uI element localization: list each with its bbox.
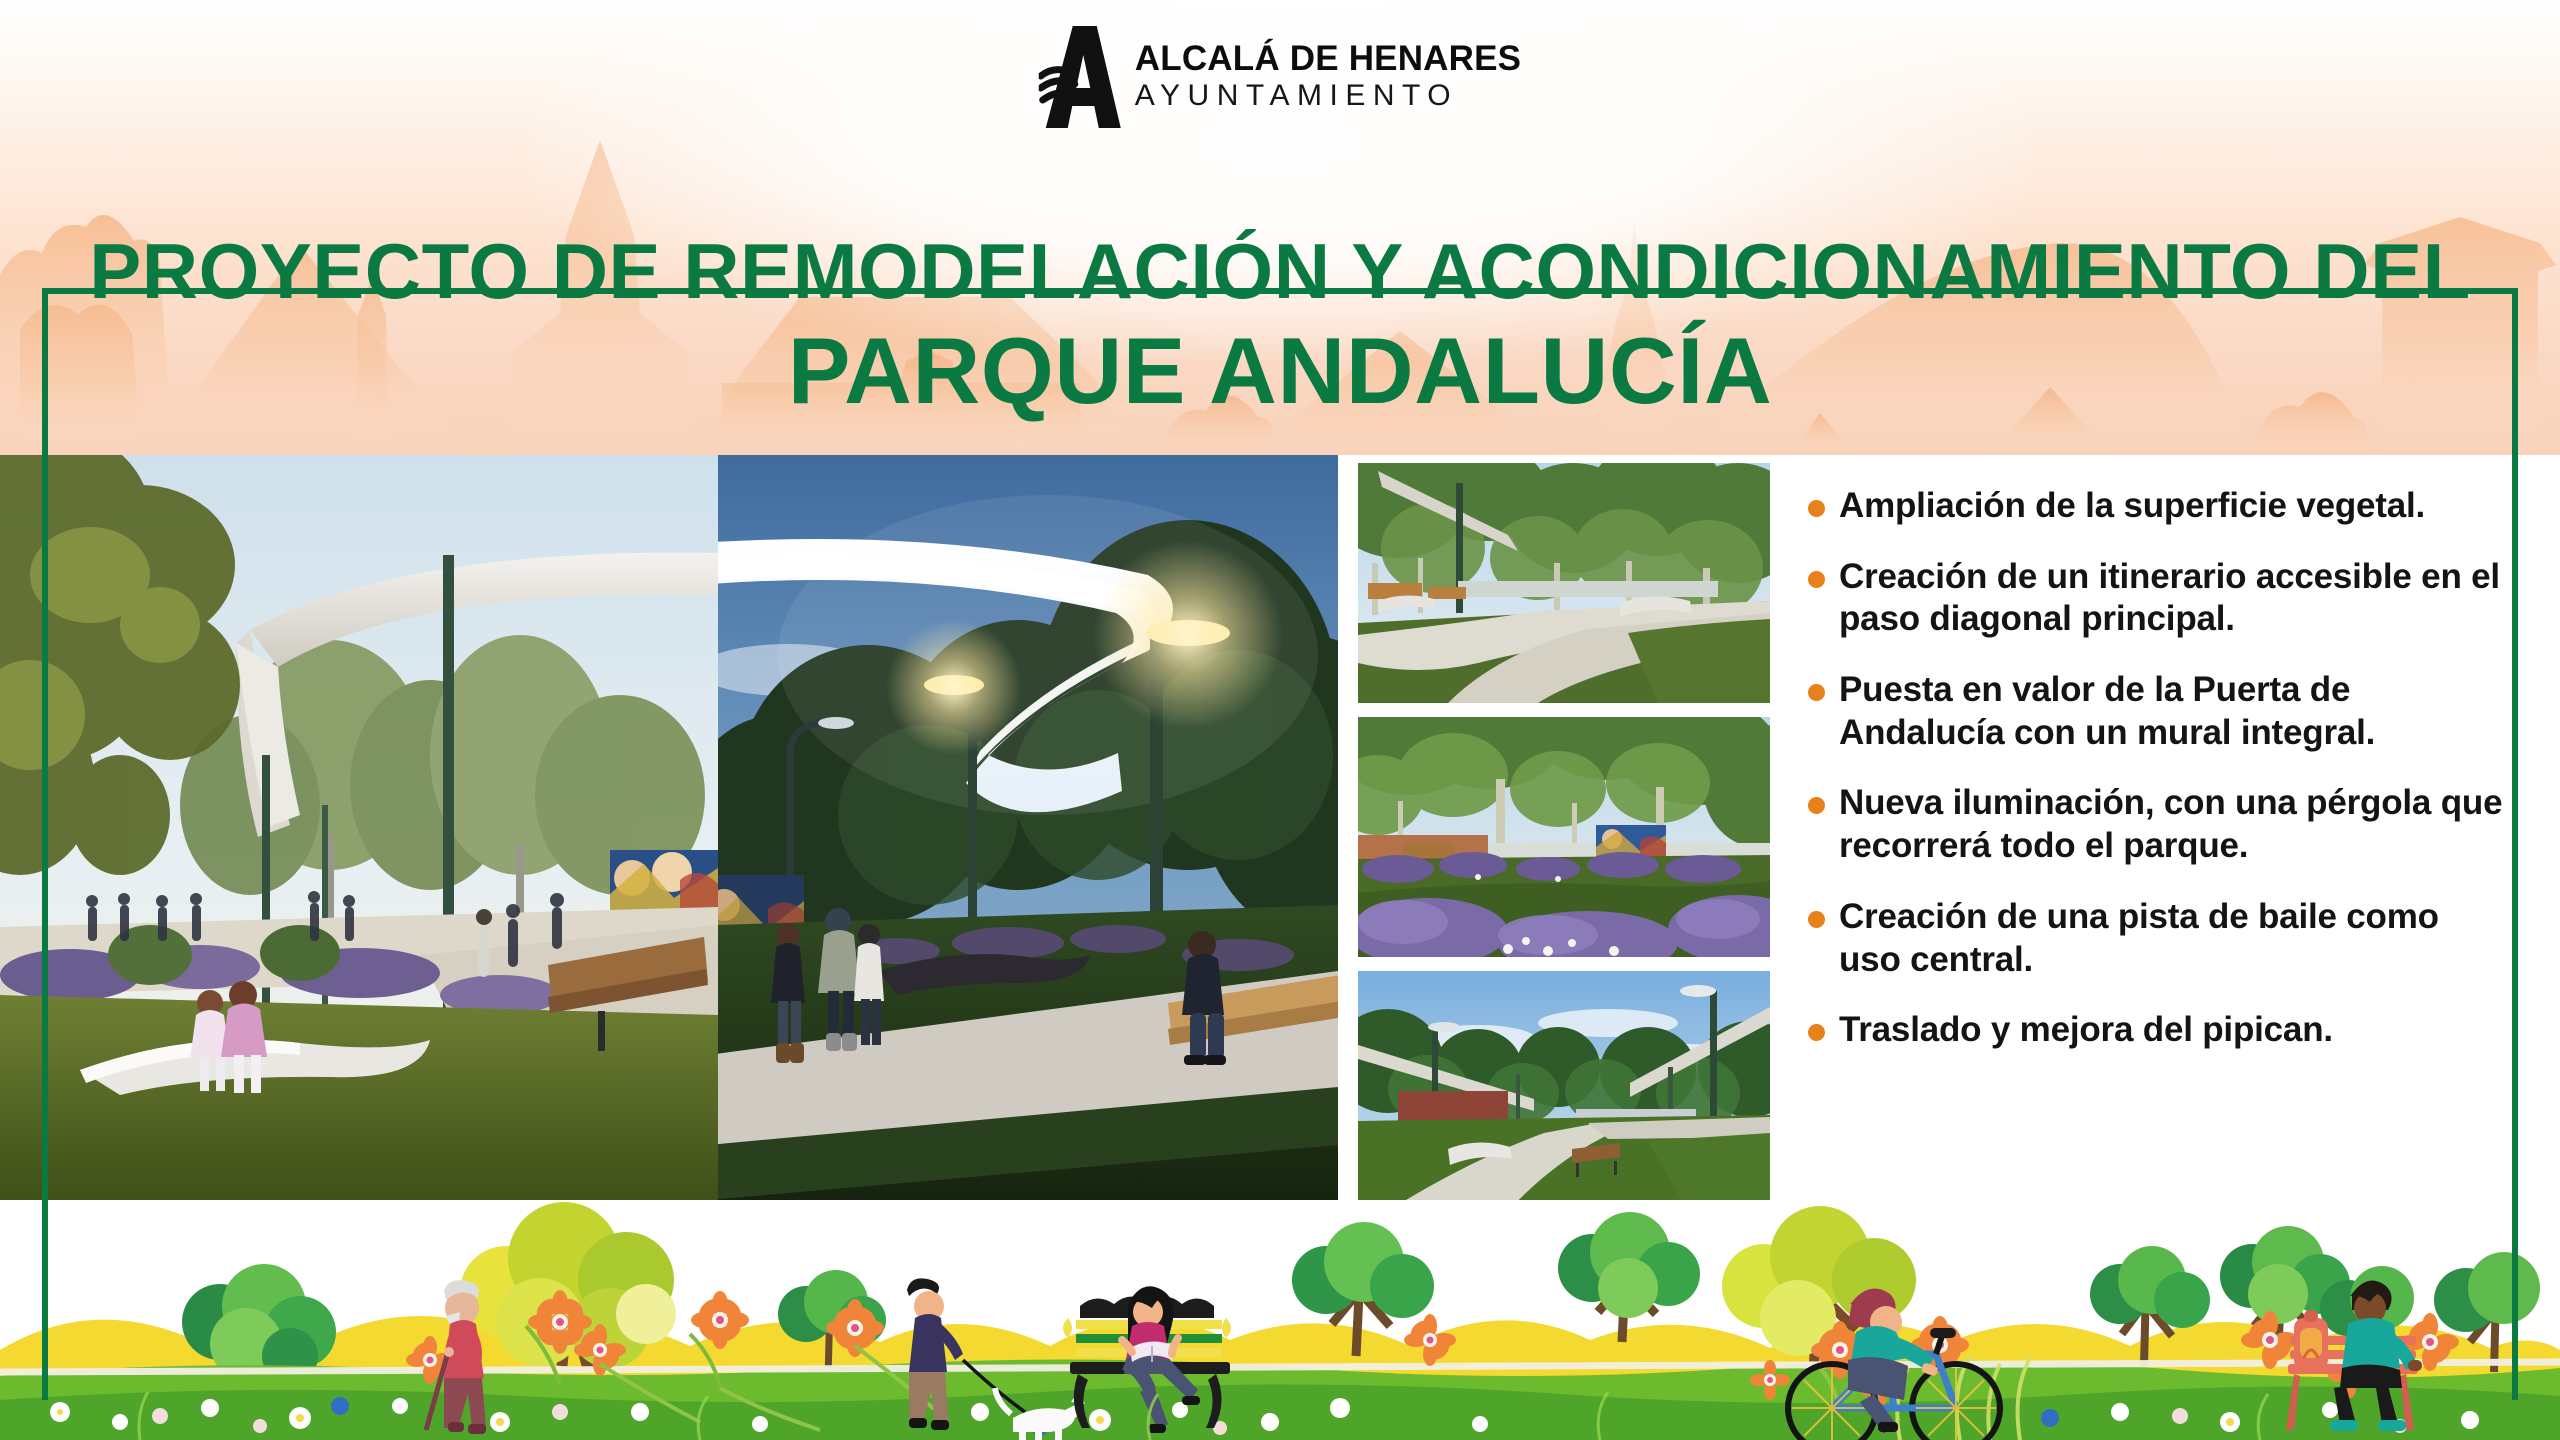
list-item: Creación de una pista de baile como uso …: [1808, 896, 2508, 981]
list-item-label: Creación de un itinerario accesible en e…: [1839, 556, 2508, 641]
render-day-view: [0, 455, 718, 1200]
bullet-dot-icon: [1808, 1024, 1825, 1041]
brand-subtitle: AYUNTAMIENTO: [1135, 79, 1521, 114]
bullet-dot-icon: [1808, 500, 1825, 517]
page-title: PROYECTO DE REMODELACIÓN Y ACONDICIONAMI…: [0, 232, 2560, 420]
list-item: Ampliación de la superficie vegetal.: [1808, 485, 2508, 528]
list-item-label: Creación de una pista de baile como uso …: [1839, 896, 2508, 981]
list-item: Nueva iluminación, con una pérgola que r…: [1808, 782, 2508, 867]
features-list: Ampliación de la superficie vegetal. Cre…: [1808, 485, 2508, 1080]
thumbnail-superficie-vegetal-lavanda[interactable]: [1358, 717, 1770, 957]
thumbnail-itinerario-accesible-paseo[interactable]: [1358, 463, 1770, 703]
content-area: Ampliación de la superficie vegetal. Cre…: [0, 455, 2560, 1200]
brand-name: ALCALÁ DE HENARES: [1135, 41, 1521, 76]
title-line-2: PARQUE ANDALUCÍA: [0, 322, 2560, 421]
render-night-view: [718, 455, 1338, 1200]
list-item-label: Ampliación de la superficie vegetal.: [1839, 485, 2425, 528]
thumbnail-gallery: [1358, 463, 1770, 1225]
list-item-label: Nueva iluminación, con una pérgola que r…: [1839, 782, 2508, 867]
hero-renders: [0, 455, 1338, 1200]
list-item: Creación de un itinerario accesible en e…: [1808, 556, 2508, 641]
ayuntamiento-logo: ALCALÁ DE HENARES AYUNTAMIENTO: [1039, 22, 1521, 132]
bullet-dot-icon: [1808, 911, 1825, 928]
list-item: Traslado y mejora del pipican.: [1808, 1009, 2508, 1052]
footer-illustration: [0, 1200, 2560, 1440]
park-illustration-icon: [0, 1200, 2560, 1440]
alcala-a-logo-icon: [1039, 22, 1125, 132]
list-item-label: Traslado y mejora del pipican.: [1839, 1009, 2333, 1052]
bullet-dot-icon: [1808, 684, 1825, 701]
list-item: Puesta en valor de la Puerta de Andalucí…: [1808, 669, 2508, 754]
title-line-1: PROYECTO DE REMODELACIÓN Y ACONDICIONAMI…: [0, 232, 2560, 312]
thumbnail-paso-diagonal-pergola[interactable]: [1358, 971, 1770, 1211]
bullet-dot-icon: [1808, 571, 1825, 588]
bullet-dot-icon: [1808, 797, 1825, 814]
list-item-label: Puesta en valor de la Puerta de Andalucí…: [1839, 669, 2508, 754]
